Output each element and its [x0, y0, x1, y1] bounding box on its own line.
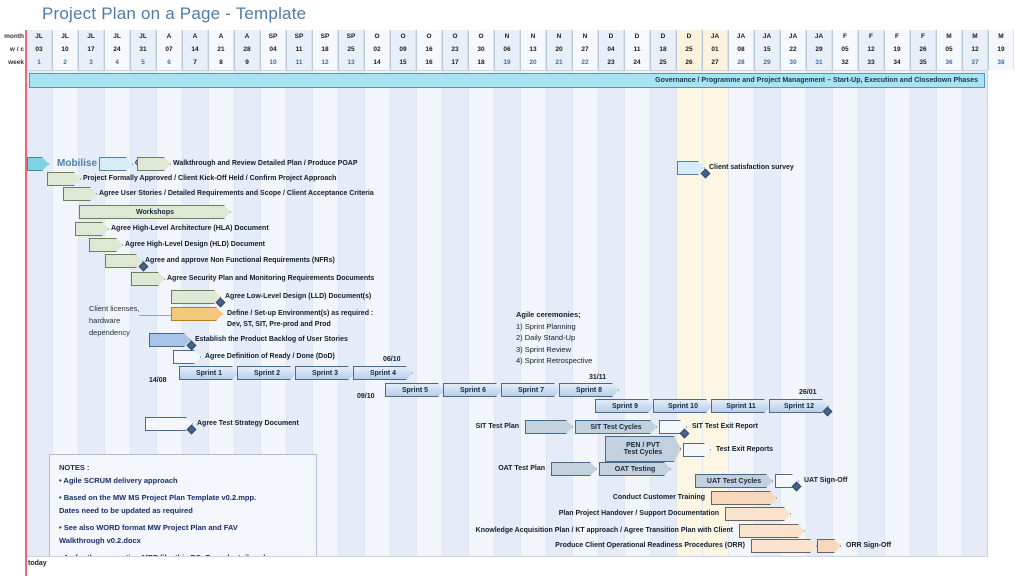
week-commencing: 25: [339, 43, 363, 56]
page-title: Project Plan on a Page - Template: [42, 4, 306, 24]
week-commencing: 13: [521, 43, 545, 56]
week-number: 28: [729, 56, 753, 69]
week-number: 26: [677, 56, 701, 69]
dependency-note-line-2: dependency: [89, 327, 139, 339]
grid-column: [885, 71, 911, 557]
week-number: 11: [287, 56, 311, 69]
task-bar-pen-pvt[interactable]: PEN / PVTTest Cycles: [605, 436, 681, 462]
week-commencing: 19: [989, 43, 1013, 56]
notes-line-8: • As for the supporting MPP file, this P…: [59, 552, 307, 557]
week-column-26: D2526: [676, 30, 702, 70]
task-bar-sprint-12[interactable]: Sprint 12: [769, 399, 829, 413]
agile-ceremonies-note: Agile ceremonies;1) Sprint Planning2) Da…: [516, 309, 592, 367]
task-label-sit-test-exit-report: SIT Test Exit Report: [692, 420, 758, 434]
week-number: 6: [157, 56, 181, 69]
label-week: week: [0, 56, 24, 69]
date-label: 26/01: [799, 389, 817, 396]
task-label-sit-test-plan: SIT Test Plan: [476, 420, 519, 434]
week-number: 5: [131, 56, 155, 69]
week-commencing: 24: [105, 43, 129, 56]
week-commencing: 30: [469, 43, 493, 56]
week-number: 25: [651, 56, 675, 69]
task-bar-project-handover[interactable]: [725, 507, 791, 521]
task-bar-workshops[interactable]: Workshops: [79, 205, 231, 219]
grid-column: [963, 71, 988, 557]
task-bar-sprint-10[interactable]: Sprint 10: [653, 399, 713, 413]
week-column-22: N2722: [572, 30, 598, 70]
week-number: 31: [807, 56, 831, 69]
task-label-orr-sign-off: ORR Sign-Off: [846, 539, 891, 553]
task-bar-orr[interactable]: [751, 539, 817, 553]
task-bar-sprint-4[interactable]: Sprint 4: [353, 366, 413, 380]
week-column-34: F1934: [884, 30, 910, 70]
week-month: JA: [781, 30, 805, 43]
week-commencing: 14: [183, 43, 207, 56]
week-number: 23: [599, 56, 623, 69]
task-bar-sprint-5[interactable]: Sprint 5: [385, 383, 445, 397]
week-month: M: [963, 30, 987, 43]
week-month: O: [443, 30, 467, 43]
week-commencing: 19: [885, 43, 909, 56]
week-number: 29: [755, 56, 779, 69]
week-column-32: F0532: [832, 30, 858, 70]
task-bar-sprint-7[interactable]: Sprint 7: [501, 383, 561, 397]
week-number: 4: [105, 56, 129, 69]
dependency-connector-line: [139, 315, 171, 316]
week-column-12: SP1812: [312, 30, 338, 70]
grid-column: [443, 71, 469, 557]
week-number: 36: [937, 56, 961, 69]
task-label-dod: Agree Definition of Ready / Done (DoD): [205, 350, 335, 364]
week-month: O: [391, 30, 415, 43]
week-commencing: 07: [157, 43, 181, 56]
date-label: 31/11: [589, 374, 606, 381]
week-commencing: 05: [937, 43, 961, 56]
task-label-customer-training: Conduct Customer Training: [613, 491, 705, 505]
week-number: 1: [27, 56, 51, 69]
task-bar-oat-testing[interactable]: OAT Testing: [599, 462, 671, 476]
week-commencing: 10: [53, 43, 77, 56]
week-month: N: [495, 30, 519, 43]
dependency-note-line-0: Client licenses,: [89, 303, 139, 315]
week-commencing: 25: [677, 43, 701, 56]
notes-line-0: • Agile SCRUM delivery approach: [59, 475, 307, 488]
task-label-confirm-deployment: Confirm Deployment Schedule with all par…: [599, 556, 751, 557]
week-number: 20: [521, 56, 545, 69]
week-month: D: [599, 30, 623, 43]
label-wc: w / c: [0, 43, 24, 56]
task-bar-sprint-2[interactable]: Sprint 2: [237, 366, 297, 380]
week-commencing: 29: [807, 43, 831, 56]
task-label-knowledge-acquisition: Knowledge Acquisition Plan / KT approach…: [476, 524, 733, 538]
week-column-11: SP1111: [286, 30, 312, 70]
agile-ceremony-item-4: 4) Sprint Retrospective: [516, 355, 592, 367]
week-column-38: M1938: [988, 30, 1014, 70]
week-column-17: O2317: [442, 30, 468, 70]
week-number: 27: [703, 56, 727, 69]
week-column-3: JL173: [78, 30, 104, 70]
week-number: 32: [833, 56, 857, 69]
task-label-mobilise: Mobilise: [57, 157, 97, 171]
task-label-environments-line2: Dev, ST, SIT, Pre-prod and Prod: [227, 318, 331, 332]
week-month: F: [833, 30, 857, 43]
week-column-37: M1237: [962, 30, 988, 70]
week-month: N: [573, 30, 597, 43]
week-commencing: 16: [417, 43, 441, 56]
week-column-13: SP2513: [338, 30, 364, 70]
week-month: F: [859, 30, 883, 43]
week-column-30: JA2230: [780, 30, 806, 70]
week-commencing: 11: [625, 43, 649, 56]
task-bar-hld[interactable]: [89, 238, 123, 252]
week-column-23: D0423: [598, 30, 624, 70]
week-column-10: SP0410: [260, 30, 286, 70]
week-commencing: 26: [911, 43, 935, 56]
week-column-9: A289: [234, 30, 260, 70]
week-month: SP: [261, 30, 285, 43]
week-number: 8: [209, 56, 233, 69]
governance-bar: Governance / Programme and Project Manag…: [29, 73, 985, 88]
week-column-27: JA0127: [702, 30, 728, 70]
task-label-hla: Agree High-Level Architecture (HLA) Docu…: [111, 222, 269, 236]
date-label: 09/10: [357, 393, 375, 400]
week-commencing: 23: [443, 43, 467, 56]
week-column-25: D1825: [650, 30, 676, 70]
week-column-6: A076: [156, 30, 182, 70]
date-label: 06/10: [383, 356, 401, 363]
week-column-4: JL244: [104, 30, 130, 70]
notes-line-2: • Based on the MW MS Project Plan Templa…: [59, 492, 307, 505]
week-number: 2: [53, 56, 77, 69]
week-column-24: D1124: [624, 30, 650, 70]
week-number: 33: [859, 56, 883, 69]
week-commencing: 31: [131, 43, 155, 56]
week-commencing: 04: [599, 43, 623, 56]
label-month: month: [0, 30, 24, 43]
date-label: 14/08: [149, 377, 167, 384]
week-commencing: 18: [651, 43, 675, 56]
week-month: M: [937, 30, 961, 43]
week-number: 9: [235, 56, 259, 69]
week-commencing: 12: [963, 43, 987, 56]
task-bar-product-backlog[interactable]: [149, 333, 191, 347]
week-column-35: F2635: [910, 30, 936, 70]
week-month: D: [625, 30, 649, 43]
week-month: D: [677, 30, 701, 43]
week-column-2: JL102: [52, 30, 78, 70]
agile-ceremony-item-3: 3) Sprint Review: [516, 344, 592, 356]
grid-column: [469, 71, 495, 557]
grid-column: [625, 71, 651, 557]
week-number: 10: [261, 56, 285, 69]
week-commencing: 05: [833, 43, 857, 56]
task-label-project-handover: Plan Project Handover / Support Document…: [559, 507, 719, 521]
task-bar-sprint-8[interactable]: Sprint 8: [559, 383, 619, 397]
today-label: today: [28, 560, 47, 567]
task-label-test-strategy: Agree Test Strategy Document: [197, 417, 299, 431]
week-number: 14: [365, 56, 389, 69]
grid-column: [391, 71, 417, 557]
week-month: A: [235, 30, 259, 43]
week-month: SP: [287, 30, 311, 43]
week-commencing: 04: [261, 43, 285, 56]
week-month: SP: [313, 30, 337, 43]
week-commencing: 18: [313, 43, 337, 56]
task-bar-confirm-deployment[interactable]: [757, 556, 789, 557]
week-month: JA: [729, 30, 753, 43]
week-column-14: O0214: [364, 30, 390, 70]
task-label-walkthrough-review: Walkthrough and Review Detailed Plan / P…: [173, 157, 358, 171]
week-column-29: JA1529: [754, 30, 780, 70]
week-month: N: [547, 30, 571, 43]
task-label-test-exit-reports: Test Exit Reports: [716, 443, 773, 457]
week-column-5: JL315: [130, 30, 156, 70]
week-month: JA: [807, 30, 831, 43]
week-number: 21: [547, 56, 571, 69]
task-bar-knowledge-acquisition[interactable]: [739, 524, 805, 538]
today-marker-line: [25, 30, 27, 576]
task-bar-sit-test-plan[interactable]: [525, 420, 573, 434]
grid-column: [911, 71, 937, 557]
week-number: 16: [417, 56, 441, 69]
week-month: O: [469, 30, 493, 43]
task-label-pen-pvt-line2: Test Cycles: [624, 449, 662, 456]
week-month: JL: [131, 30, 155, 43]
notes-line-3: Dates need to be updated as required: [59, 505, 307, 518]
week-month: JL: [27, 30, 51, 43]
task-bar-sprint-9[interactable]: Sprint 9: [595, 399, 655, 413]
task-label-nfr: Agree and approve Non Functional Require…: [145, 254, 335, 268]
gantt-chart-body: Governance / Programme and Project Manag…: [26, 70, 988, 557]
week-commencing: 20: [547, 43, 571, 56]
task-label-client-satisfaction-survey: Client satisfaction survey: [709, 161, 794, 175]
week-number: 30: [781, 56, 805, 69]
week-month: A: [157, 30, 181, 43]
week-month: F: [885, 30, 909, 43]
task-bar-oat-test-plan[interactable]: [551, 462, 597, 476]
week-column-16: O1616: [416, 30, 442, 70]
week-commencing: 28: [235, 43, 259, 56]
week-column-31: JA2931: [806, 30, 832, 70]
week-number: 22: [573, 56, 597, 69]
grid-column: [599, 71, 625, 557]
week-column-19: N0619: [494, 30, 520, 70]
task-label-oat-test-plan: OAT Test Plan: [498, 462, 545, 476]
week-commencing: 06: [495, 43, 519, 56]
notes-box: NOTES :• Agile SCRUM delivery approach• …: [49, 454, 317, 557]
task-bar-project-formally-approved[interactable]: [47, 172, 81, 186]
week-month: O: [417, 30, 441, 43]
week-column-28: JA0828: [728, 30, 754, 70]
week-number: 38: [989, 56, 1013, 69]
task-bar-security-plan[interactable]: [131, 272, 165, 286]
task-bar-customer-training[interactable]: [711, 491, 777, 505]
agile-ceremony-item-1: 1) Sprint Planning: [516, 321, 592, 333]
task-bar-hla[interactable]: [75, 222, 109, 236]
task-label-agree-user-stories: Agree User Stories / Detailed Requiremen…: [99, 187, 374, 201]
task-label-orr: Produce Client Operational Readiness Pro…: [555, 539, 745, 553]
task-bar-sprint-11[interactable]: Sprint 11: [711, 399, 771, 413]
week-commencing: 02: [365, 43, 389, 56]
task-label-product-backlog: Establish the Product Backlog of User St…: [195, 333, 348, 347]
week-column-33: F1233: [858, 30, 884, 70]
grid-column: [651, 71, 677, 557]
week-month: M: [989, 30, 1013, 43]
week-number: 34: [885, 56, 909, 69]
week-commencing: 09: [391, 43, 415, 56]
timeline-header: month w / c week >>> 2018 JL031JL102JL17…: [0, 30, 1024, 70]
week-column-8: A218: [208, 30, 234, 70]
week-month: D: [651, 30, 675, 43]
week-month: JA: [755, 30, 779, 43]
task-bar-sprint-3[interactable]: Sprint 3: [295, 366, 355, 380]
week-number: 37: [963, 56, 987, 69]
week-commencing: 03: [27, 43, 51, 56]
week-number: 35: [911, 56, 935, 69]
notes-line-6: Walkthrough v0.2.docx: [59, 535, 307, 548]
agile-ceremony-item-2: 2) Daily Stand-Up: [516, 332, 592, 344]
notes-line-5: • See also WORD format MW Project Plan a…: [59, 522, 307, 535]
task-bar-walkthrough-review[interactable]: [137, 157, 171, 171]
agile-ceremonies-title: Agile ceremonies;: [516, 309, 592, 321]
week-commencing: 21: [209, 43, 233, 56]
week-number: 12: [313, 56, 337, 69]
task-label-lld: Agree Low-Level Design (LLD) Document(s): [225, 290, 371, 304]
week-month: N: [521, 30, 545, 43]
task-label-hld: Agree High-Level Design (HLD) Document: [125, 238, 265, 252]
week-commencing: 01: [703, 43, 727, 56]
grid-column: [859, 71, 885, 557]
week-column-1: JL031: [26, 30, 52, 70]
task-bar-sprint-6[interactable]: Sprint 6: [443, 383, 503, 397]
task-label-pen-pvt: PEN / PVT: [626, 442, 660, 449]
week-column-15: O0915: [390, 30, 416, 70]
week-month: A: [183, 30, 207, 43]
week-number: 18: [469, 56, 493, 69]
week-month: A: [209, 30, 233, 43]
week-month: SP: [339, 30, 363, 43]
task-bar-environments[interactable]: [171, 307, 223, 321]
week-commencing: 12: [859, 43, 883, 56]
week-column-36: M0536: [936, 30, 962, 70]
week-commencing: 17: [79, 43, 103, 56]
week-number: 24: [625, 56, 649, 69]
grid-column: [417, 71, 443, 557]
week-commencing: 11: [287, 43, 311, 56]
task-bar-sit-test-cycles[interactable]: SIT Test Cycles: [575, 420, 657, 434]
dependency-note-line-1: hardware: [89, 315, 139, 327]
task-bar-lld[interactable]: [171, 290, 221, 304]
timeline-row-labels: month w / c week: [0, 30, 26, 70]
week-number: 7: [183, 56, 207, 69]
week-month: F: [911, 30, 935, 43]
week-month: O: [365, 30, 389, 43]
dependency-note: Client licenses,hardwaredependency: [89, 303, 139, 339]
notes-heading: NOTES :: [59, 462, 307, 475]
week-month: JA: [703, 30, 727, 43]
week-month: JL: [79, 30, 103, 43]
week-commencing: 27: [573, 43, 597, 56]
task-label-project-formally-approved: Project Formally Approved / Client Kick-…: [83, 172, 336, 186]
task-bar-uat-test-cycles[interactable]: UAT Test Cycles: [695, 474, 773, 488]
week-number: 13: [339, 56, 363, 69]
task-bar-agree-user-stories[interactable]: [63, 187, 97, 201]
task-label-security-plan: Agree Security Plan and Monitoring Requi…: [167, 272, 374, 286]
week-column-7: A147: [182, 30, 208, 70]
week-month: JL: [105, 30, 129, 43]
week-commencing: 22: [781, 43, 805, 56]
week-commencing: 15: [755, 43, 779, 56]
week-month: JL: [53, 30, 77, 43]
week-commencing: 08: [729, 43, 753, 56]
week-number: 15: [391, 56, 415, 69]
week-column-20: N1320: [520, 30, 546, 70]
week-column-21: N2021: [546, 30, 572, 70]
week-column-18: O3018: [468, 30, 494, 70]
week-number: 19: [495, 56, 519, 69]
week-number: 3: [79, 56, 103, 69]
grid-column: [937, 71, 963, 557]
task-bar-sprint-1[interactable]: Sprint 1: [179, 366, 239, 380]
task-bar-client-ss[interactable]: [99, 157, 133, 171]
task-label-uat-sign-off: UAT Sign-Off: [804, 474, 847, 488]
week-number: 17: [443, 56, 467, 69]
